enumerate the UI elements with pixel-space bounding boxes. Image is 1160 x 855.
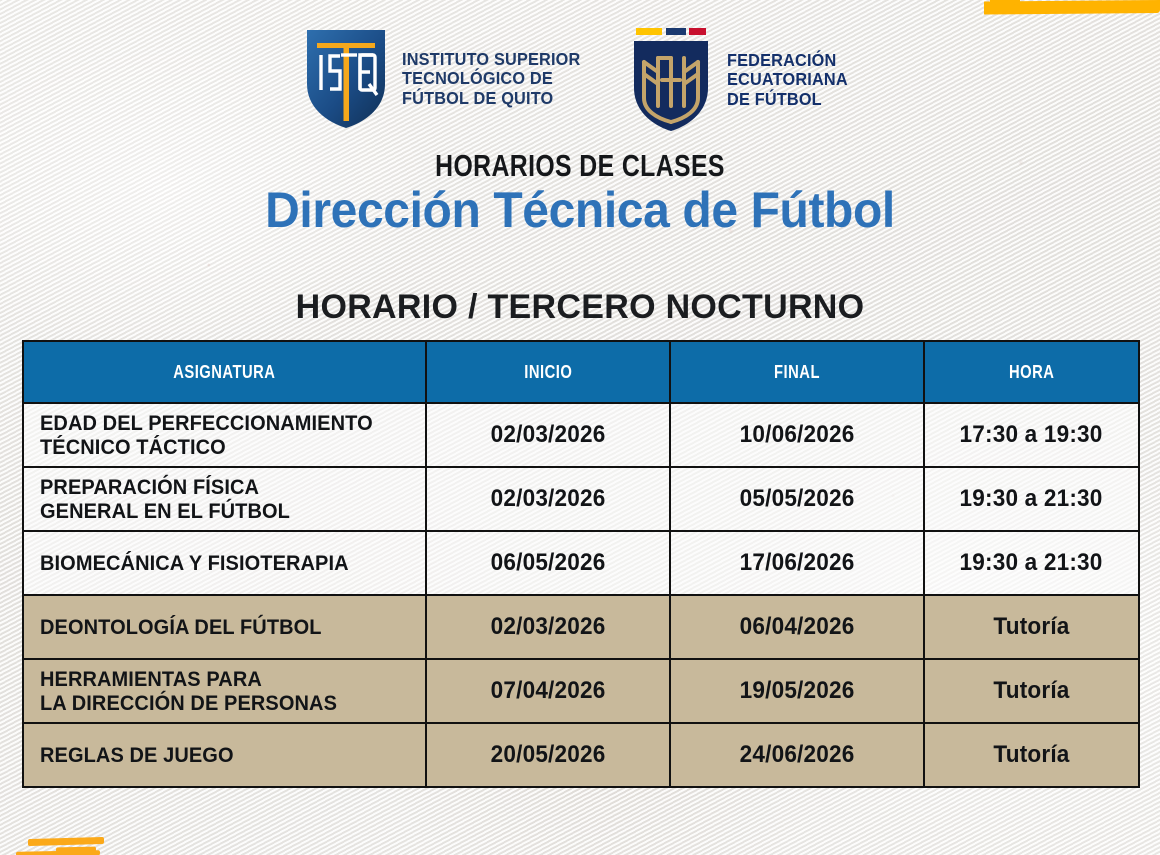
- cell-inicio: 02/03/2026: [426, 403, 670, 467]
- cell-hora-value: 19:30 a 21:30: [960, 485, 1103, 513]
- istfq-name-line-3: FÚTBOL DE QUITO: [402, 89, 580, 109]
- poster-kicker: HORARIOS DE CLASES: [116, 148, 1044, 184]
- cell-final: 06/04/2026: [670, 595, 924, 659]
- cell-hora: 19:30 a 21:30: [924, 531, 1139, 595]
- cell-asignatura: HERRAMIENTAS PARALA DIRECCIÓN DE PERSONA…: [23, 659, 426, 723]
- cell-final-value: 10/06/2026: [740, 421, 855, 449]
- cell-inicio: 20/05/2026: [426, 723, 670, 787]
- istfq-name-line-2: TECNOLÓGICO DE: [402, 69, 580, 89]
- schedule-table-body: EDAD DEL PERFECCIONAMIENTOTÉCNICO TÁCTIC…: [23, 403, 1139, 787]
- istfq-name: INSTITUTO SUPERIOR TECNOLÓGICO DE FÚTBOL…: [402, 50, 580, 109]
- asignatura-line: BIOMECÁNICA Y FISIOTERAPIA: [40, 551, 349, 575]
- fef-name-line-1: FEDERACIÓN: [727, 51, 848, 71]
- asignatura-line: REGLAS DE JUEGO: [40, 743, 234, 767]
- cell-inicio-value: 20/05/2026: [491, 741, 606, 769]
- fef-name: FEDERACIÓN ECUATORIANA DE FÚTBOL: [727, 51, 848, 110]
- cell-final-value: 06/04/2026: [740, 613, 855, 641]
- table-row: REGLAS DE JUEGO20/05/202624/06/2026Tutor…: [23, 723, 1139, 787]
- asignatura-line: EDAD DEL PERFECCIONAMIENTO: [40, 411, 373, 435]
- top-right-brush-stroke: [984, 0, 1160, 15]
- cell-hora-value: 17:30 a 19:30: [960, 421, 1103, 449]
- column-header-final: FINAL: [670, 341, 924, 403]
- cell-hora-value: Tutoría: [993, 677, 1069, 705]
- table-row: PREPARACIÓN FÍSICAGENERAL EN EL FÚTBOL02…: [23, 467, 1139, 531]
- asignatura-line: HERRAMIENTAS PARA: [40, 667, 262, 691]
- cell-final: 24/06/2026: [670, 723, 924, 787]
- column-header-label: FINAL: [774, 362, 820, 383]
- bottom-left-brush-stroke: [16, 850, 100, 855]
- column-header-label: ASIGNATURA: [173, 362, 275, 383]
- asignatura-line: GENERAL EN EL FÚTBOL: [40, 499, 290, 523]
- asignatura-line: DEONTOLOGÍA DEL FÚTBOL: [40, 615, 322, 639]
- cell-hora: Tutoría: [924, 723, 1139, 787]
- cell-hora: Tutoría: [924, 595, 1139, 659]
- asignatura-line: PREPARACIÓN FÍSICA: [40, 475, 259, 499]
- cell-final-value: 17/06/2026: [740, 549, 855, 577]
- cell-asignatura: DEONTOLOGÍA DEL FÚTBOL: [23, 595, 426, 659]
- fef-name-line-2: ECUATORIANA: [727, 70, 848, 90]
- schedule-table: ASIGNATURA INICIO FINAL HORA EDAD DEL PE…: [22, 340, 1140, 788]
- column-header-label: INICIO: [524, 362, 572, 383]
- table-header-row: ASIGNATURA INICIO FINAL HORA: [23, 341, 1139, 403]
- asignatura-line: LA DIRECCIÓN DE PERSONAS: [40, 691, 337, 715]
- cell-inicio: 02/03/2026: [426, 467, 670, 531]
- table-row: HERRAMIENTAS PARALA DIRECCIÓN DE PERSONA…: [23, 659, 1139, 723]
- cell-inicio-value: 06/05/2026: [491, 549, 606, 577]
- cell-asignatura: BIOMECÁNICA Y FISIOTERAPIA: [23, 531, 426, 595]
- fef-shield-logo-icon: [628, 26, 714, 134]
- istfq-name-line-1: INSTITUTO SUPERIOR: [402, 50, 580, 70]
- cell-inicio: 06/05/2026: [426, 531, 670, 595]
- column-header-label: HORA: [1009, 362, 1054, 383]
- cell-asignatura: PREPARACIÓN FÍSICAGENERAL EN EL FÚTBOL: [23, 467, 426, 531]
- cell-final: 05/05/2026: [670, 467, 924, 531]
- table-row: DEONTOLOGÍA DEL FÚTBOL02/03/202606/04/20…: [23, 595, 1139, 659]
- cell-asignatura: REGLAS DE JUEGO: [23, 723, 426, 787]
- cell-asignatura: EDAD DEL PERFECCIONAMIENTOTÉCNICO TÁCTIC…: [23, 403, 426, 467]
- cell-inicio-value: 02/03/2026: [491, 613, 606, 641]
- logo-bar: INSTITUTO SUPERIOR TECNOLÓGICO DE FÚTBOL…: [0, 26, 1160, 134]
- cell-inicio-value: 07/04/2026: [491, 677, 606, 705]
- cell-final: 19/05/2026: [670, 659, 924, 723]
- column-header-asignatura: ASIGNATURA: [23, 341, 426, 403]
- schedule-subtitle: HORARIO / TERCERO NOCTURNO: [0, 288, 1160, 327]
- cell-final-value: 19/05/2026: [740, 677, 855, 705]
- istfq-shield-logo-icon: [303, 26, 389, 132]
- fef-logo-block: FEDERACIÓN ECUATORIANA DE FÚTBOL: [628, 26, 857, 134]
- cell-inicio-value: 02/03/2026: [491, 485, 606, 513]
- cell-hora: 19:30 a 21:30: [924, 467, 1139, 531]
- fef-name-line-3: DE FÚTBOL: [727, 90, 848, 110]
- asignatura-line: TÉCNICO TÁCTICO: [40, 435, 226, 459]
- cell-hora: 17:30 a 19:30: [924, 403, 1139, 467]
- cell-inicio-value: 02/03/2026: [491, 421, 606, 449]
- cell-hora-value: Tutoría: [993, 741, 1069, 769]
- table-row: EDAD DEL PERFECCIONAMIENTOTÉCNICO TÁCTIC…: [23, 403, 1139, 467]
- cell-inicio: 07/04/2026: [426, 659, 670, 723]
- cell-hora-value: 19:30 a 21:30: [960, 549, 1103, 577]
- cell-hora-value: Tutoría: [993, 613, 1069, 641]
- column-header-hora: HORA: [924, 341, 1139, 403]
- poster-canvas: INSTITUTO SUPERIOR TECNOLÓGICO DE FÚTBOL…: [0, 0, 1160, 855]
- cell-hora: Tutoría: [924, 659, 1139, 723]
- column-header-inicio: INICIO: [426, 341, 670, 403]
- bottom-left-brush-stroke: [28, 837, 104, 846]
- cell-inicio: 02/03/2026: [426, 595, 670, 659]
- cell-final-value: 24/06/2026: [740, 741, 855, 769]
- istfq-logo-block: INSTITUTO SUPERIOR TECNOLÓGICO DE FÚTBOL…: [303, 26, 594, 132]
- page-title: Dirección Técnica de Fútbol: [23, 181, 1137, 239]
- cell-final: 10/06/2026: [670, 403, 924, 467]
- cell-final: 17/06/2026: [670, 531, 924, 595]
- cell-final-value: 05/05/2026: [740, 485, 855, 513]
- table-row: BIOMECÁNICA Y FISIOTERAPIA06/05/202617/0…: [23, 531, 1139, 595]
